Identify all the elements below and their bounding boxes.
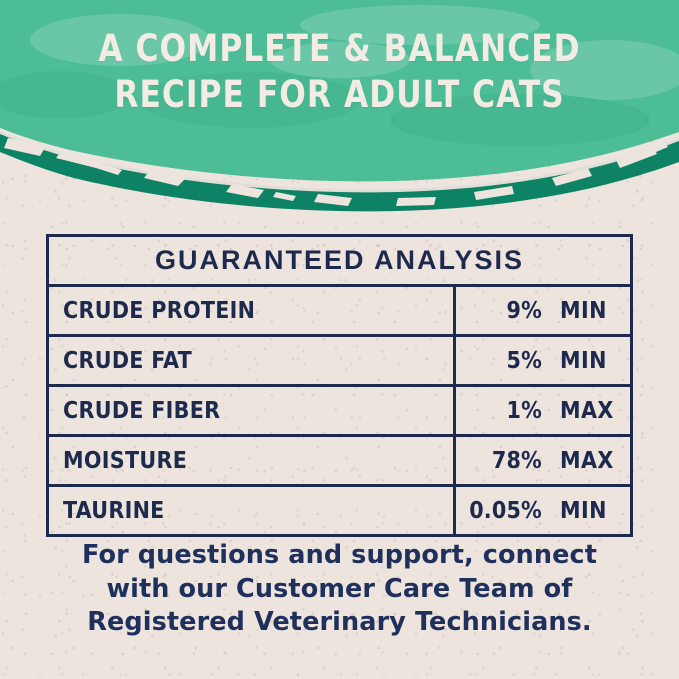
banner-title-line-1: A COMPLETE & BALANCED <box>20 26 658 72</box>
banner-title-line-2: RECIPE FOR ADULT CATS <box>20 72 658 118</box>
nutrient-amount: 5% <box>456 348 548 374</box>
nutrient-values: 5% MIN <box>453 337 630 384</box>
pet-food-label-panel: A COMPLETE & BALANCED RECIPE FOR ADULT C… <box>0 0 679 679</box>
nutrient-values: 0.05% MIN <box>453 487 630 534</box>
support-line-2: with our Customer Care Team of <box>0 573 679 607</box>
guaranteed-analysis-title: GUARANTEED ANALYSIS <box>49 237 630 287</box>
nutrient-name: MOISTURE <box>49 437 453 484</box>
nutrient-name: CRUDE FIBER <box>49 387 453 434</box>
nutrient-values: 9% MIN <box>453 287 630 334</box>
table-row: CRUDE FAT 5% MIN <box>49 337 630 387</box>
table-row: CRUDE FIBER 1% MAX <box>49 387 630 437</box>
nutrient-amount: 78% <box>456 448 548 474</box>
guaranteed-analysis-table: GUARANTEED ANALYSIS CRUDE PROTEIN 9% MIN… <box>46 234 633 537</box>
table-row: CRUDE PROTEIN 9% MIN <box>49 287 630 337</box>
nutrient-values: 1% MAX <box>453 387 630 434</box>
nutrient-amount: 0.05% <box>456 498 548 524</box>
customer-support-message: For questions and support, connect with … <box>0 539 679 640</box>
nutrient-amount: 1% <box>456 398 548 424</box>
header-banner: A COMPLETE & BALANCED RECIPE FOR ADULT C… <box>0 0 679 215</box>
nutrient-limit: MIN <box>548 498 607 524</box>
banner-title: A COMPLETE & BALANCED RECIPE FOR ADULT C… <box>20 26 658 118</box>
nutrient-amount: 9% <box>456 298 548 324</box>
nutrient-name: CRUDE PROTEIN <box>49 287 453 334</box>
nutrient-limit: MAX <box>548 448 614 474</box>
table-row: MOISTURE 78% MAX <box>49 437 630 487</box>
nutrient-limit: MAX <box>548 398 614 424</box>
nutrient-limit: MIN <box>548 348 607 374</box>
nutrient-limit: MIN <box>548 298 607 324</box>
nutrient-name: CRUDE FAT <box>49 337 453 384</box>
table-row: TAURINE 0.05% MIN <box>49 487 630 534</box>
nutrient-values: 78% MAX <box>453 437 630 484</box>
support-line-1: For questions and support, connect <box>0 539 679 573</box>
support-line-3: Registered Veterinary Technicians. <box>0 606 679 640</box>
nutrient-name: TAURINE <box>49 487 453 534</box>
